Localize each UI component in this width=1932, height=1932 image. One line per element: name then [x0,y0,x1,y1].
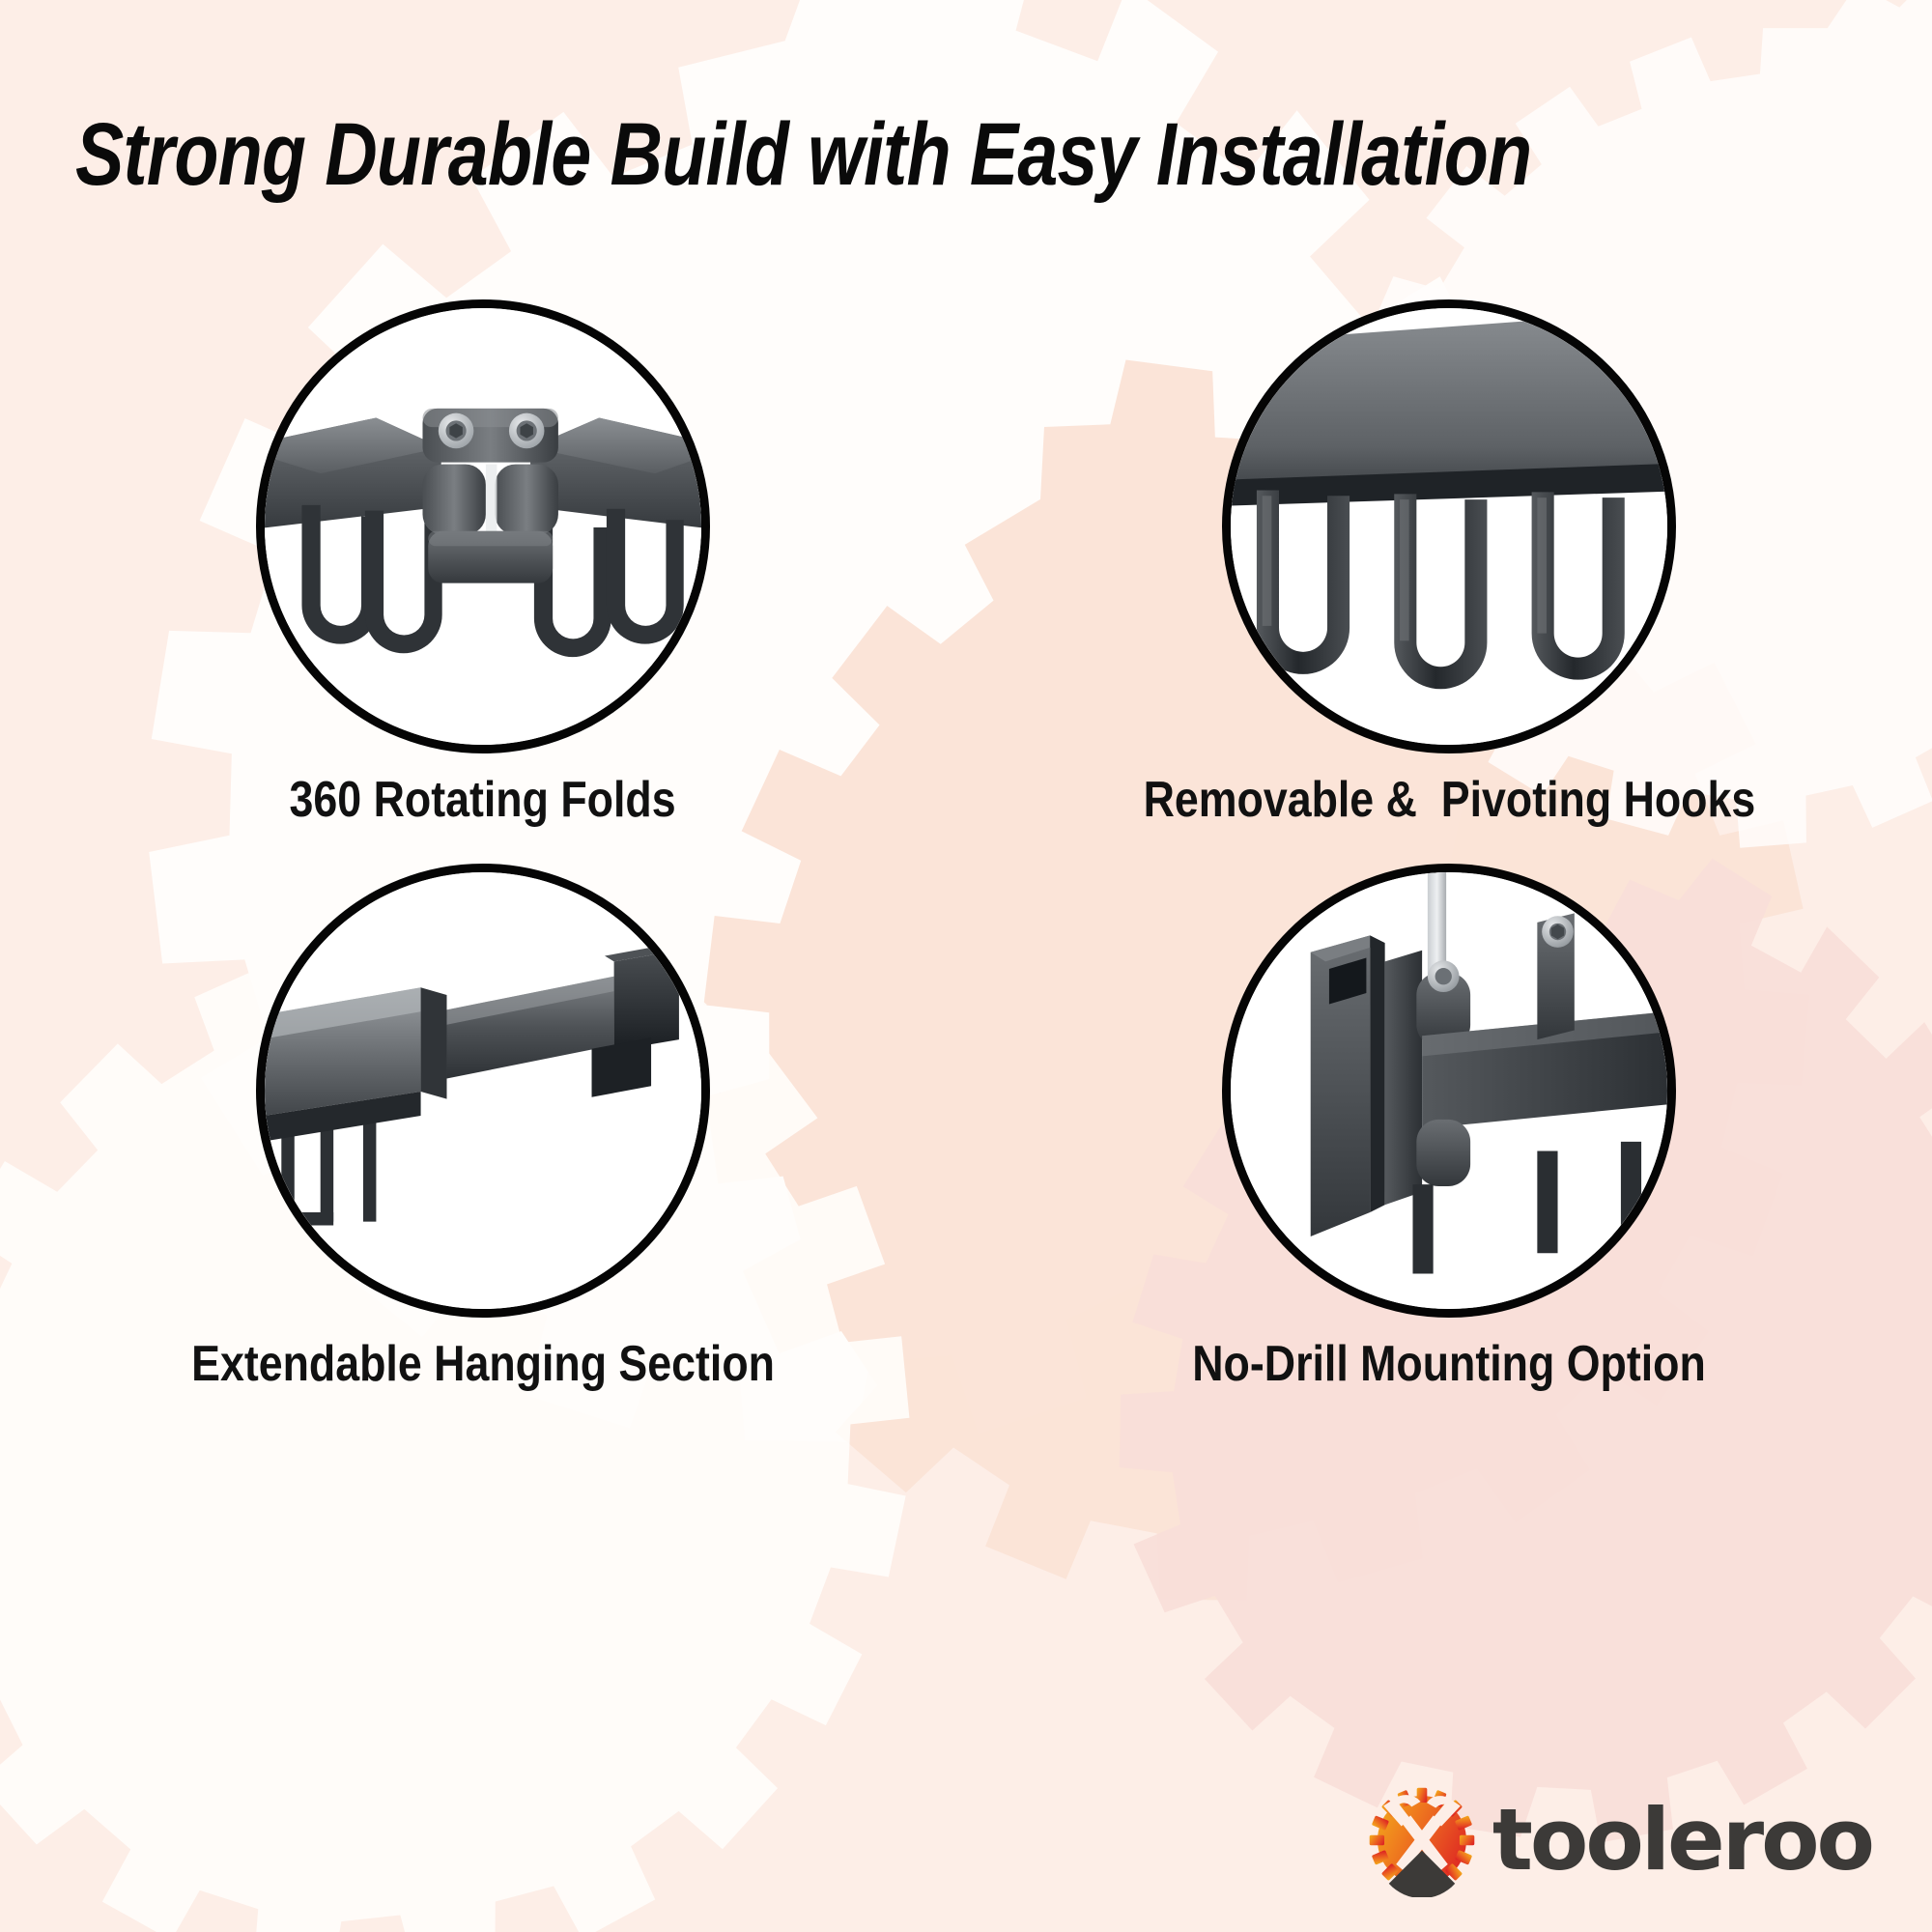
gear-with-crossed-hammer-and-wrench-icon [1365,1783,1479,1897]
logo-wordmark: tooleroo [1492,1798,1872,1883]
feature-photo-pivoting-hooks [1222,299,1676,753]
feature-caption-rotating-folds: 360 Rotating Folds [290,771,676,829]
page-title: Strong Durable Build with Easy Installat… [75,104,1531,206]
feature-pivoting-hooks: Removable & Pivoting Hooks [966,299,1932,829]
hinge-joint-illustration [265,308,701,745]
over-door-bracket-illustration [1231,872,1667,1309]
feature-rotating-folds: 360 Rotating Folds [0,299,966,829]
feature-caption-no-drill-mounting: No-Drill Mounting Option [1192,1335,1706,1393]
tooleroo-logo: tooleroo [1365,1783,1872,1897]
feature-caption-extendable-section: Extendable Hanging Section [191,1335,775,1393]
extendable-arm-illustration [265,872,701,1309]
feature-photo-no-drill-mounting [1222,864,1676,1318]
feature-no-drill-mounting: No-Drill Mounting Option [966,864,1932,1393]
feature-extendable-section: Extendable Hanging Section [0,864,966,1393]
feature-caption-pivoting-hooks: Removable & Pivoting Hooks [1143,771,1755,829]
feature-photo-rotating-folds [256,299,710,753]
feature-photo-extendable-section [256,864,710,1318]
removable-hooks-illustration [1231,308,1667,745]
feature-grid: 360 Rotating Folds [0,299,1932,1393]
